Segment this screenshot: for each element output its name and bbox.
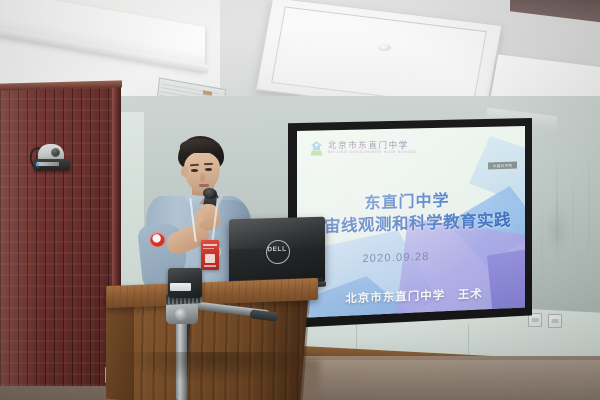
recorder-label [170, 283, 191, 291]
smoke-detector-icon [378, 44, 391, 51]
camera-lens-icon [51, 148, 60, 157]
badge-text-line [203, 244, 217, 246]
school-crest-icon [309, 140, 324, 157]
wall-scuff [545, 205, 571, 255]
presenter-mouth [199, 184, 209, 187]
camera-status-led [36, 163, 39, 166]
badge-photo [205, 254, 215, 263]
presentation-room-photo: 北京市东直门中学 BEIJING DONGZHIMEN HIGH SCHOOL … [0, 0, 600, 400]
wood-wall-highlight [0, 86, 40, 386]
projection-screen[interactable]: 北京市东直门中学 BEIJING DONGZHIMEN HIGH SCHOOL … [297, 126, 525, 318]
camera-label [37, 162, 59, 166]
presenter-eye [191, 169, 198, 172]
laptop-brand-label: DELL [266, 246, 288, 254]
wall-streak [541, 196, 543, 296]
presenter-nose [200, 173, 205, 182]
podium-side-panel [106, 293, 134, 400]
presenter-hair-fringe [180, 139, 220, 153]
school-logo: 北京市东直门中学 BEIJING DONGZHIMEN HIGH SCHOOL [309, 138, 429, 160]
floor-gloss-highlight [300, 360, 600, 400]
school-logo-subtitle: BEIJING DONGZHIMEN HIGH SCHOOL [328, 150, 418, 154]
presenter-eye [205, 168, 212, 171]
wall-outlet [548, 314, 562, 328]
badge-text-line [203, 248, 214, 249]
tripod-lock-knob[interactable] [175, 308, 188, 321]
presenter-ear [181, 166, 188, 177]
wall-streak [572, 170, 574, 260]
badge-name-line [204, 265, 216, 267]
podium-cast-shadow [118, 352, 318, 382]
wall-streak [588, 140, 590, 280]
slide-corner-badge: 中国科学院 [488, 161, 517, 169]
shirt-shoulder-patch [149, 232, 166, 248]
